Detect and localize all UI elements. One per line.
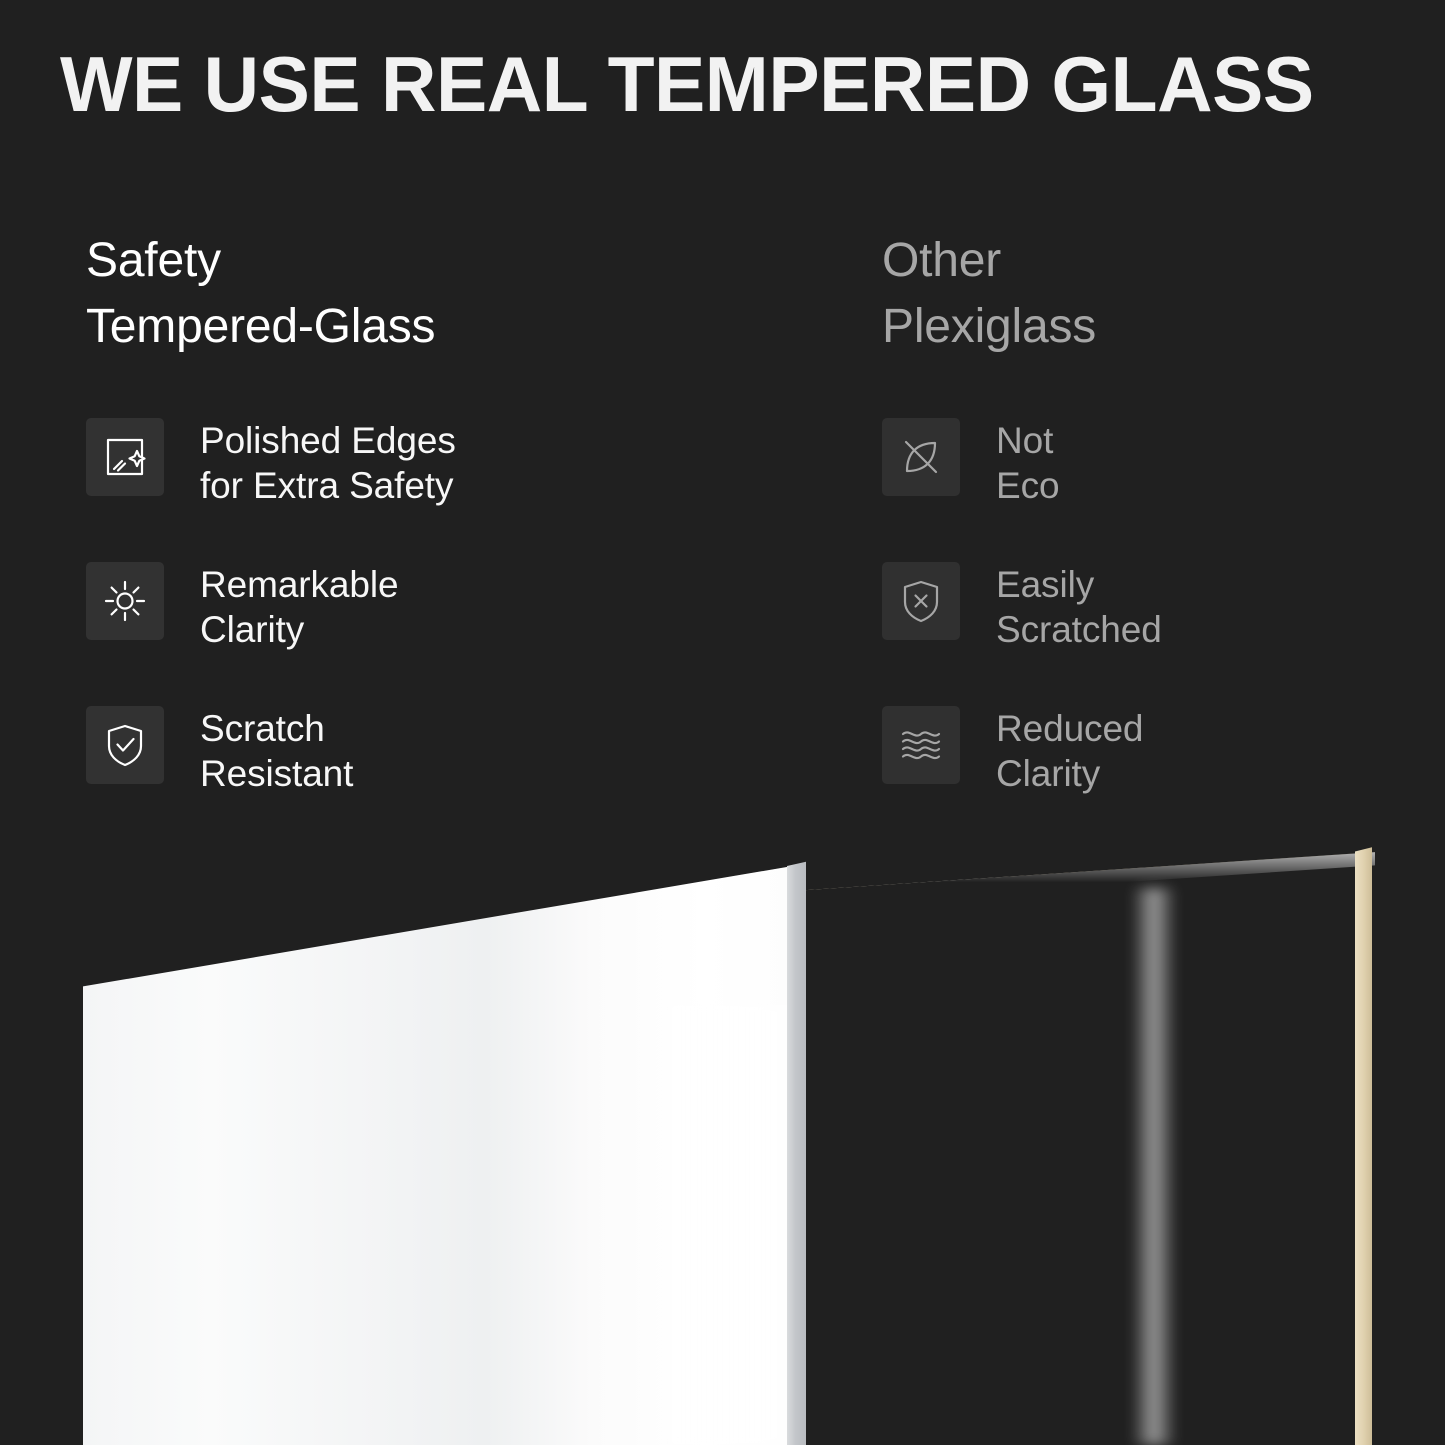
shield-check-icon <box>86 706 164 784</box>
wavy-distortion-icon <box>882 706 960 784</box>
feature-label-reduced-clarity: Reduced Clarity <box>996 704 1143 796</box>
feature-label-polished-edges: Polished Edges for Extra Safety <box>200 416 456 508</box>
feature-label-remarkable-clarity: Remarkable Clarity <box>200 560 398 652</box>
feature-easily-scratched: Easily Scratched <box>882 560 1422 704</box>
feature-not-eco: Not Eco <box>882 416 1422 560</box>
polished-glass-sparkle-icon <box>86 418 164 496</box>
feature-list-safety: Polished Edges for Extra Safety <box>86 416 786 848</box>
column-title-safety: Safety Tempered-Glass <box>86 228 786 360</box>
column-safety-tempered-glass: Safety Tempered-Glass Polished Edges for… <box>86 228 786 848</box>
feature-polished-edges: Polished Edges for Extra Safety <box>86 416 786 560</box>
glass-panels-photo: Tempered glass panel, clear white, polis… <box>0 840 1445 1445</box>
comparison-columns: Safety Tempered-Glass Polished Edges for… <box>0 228 1445 848</box>
feature-label-scratch-resistant: Scratch Resistant <box>200 704 353 796</box>
tempered-glass-panel <box>83 840 789 1445</box>
column-title-plexiglass: Other Plexiglass <box>882 228 1422 360</box>
plexiglass-panel <box>795 840 1375 1445</box>
leaf-crossed-out-icon <box>882 418 960 496</box>
tempered-glass-panel-right-edge <box>787 840 806 1445</box>
plexiglass-panel-right-edge <box>1355 840 1372 1445</box>
feature-list-plexiglass: Not Eco Easily Scratched <box>882 416 1422 848</box>
column-other-plexiglass: Other Plexiglass Not Eco <box>882 228 1422 848</box>
sun-clarity-icon <box>86 562 164 640</box>
feature-label-easily-scratched: Easily Scratched <box>996 560 1162 652</box>
feature-reduced-clarity: Reduced Clarity <box>882 704 1422 848</box>
comparison-poster: WE USE REAL TEMPERED GLASS Safety Temper… <box>0 0 1445 1445</box>
shield-x-icon <box>882 562 960 640</box>
feature-remarkable-clarity: Remarkable Clarity <box>86 560 786 704</box>
feature-scratch-resistant: Scratch Resistant <box>86 704 786 848</box>
feature-label-not-eco: Not Eco <box>996 416 1059 508</box>
page-title: WE USE REAL TEMPERED GLASS <box>60 42 1380 126</box>
